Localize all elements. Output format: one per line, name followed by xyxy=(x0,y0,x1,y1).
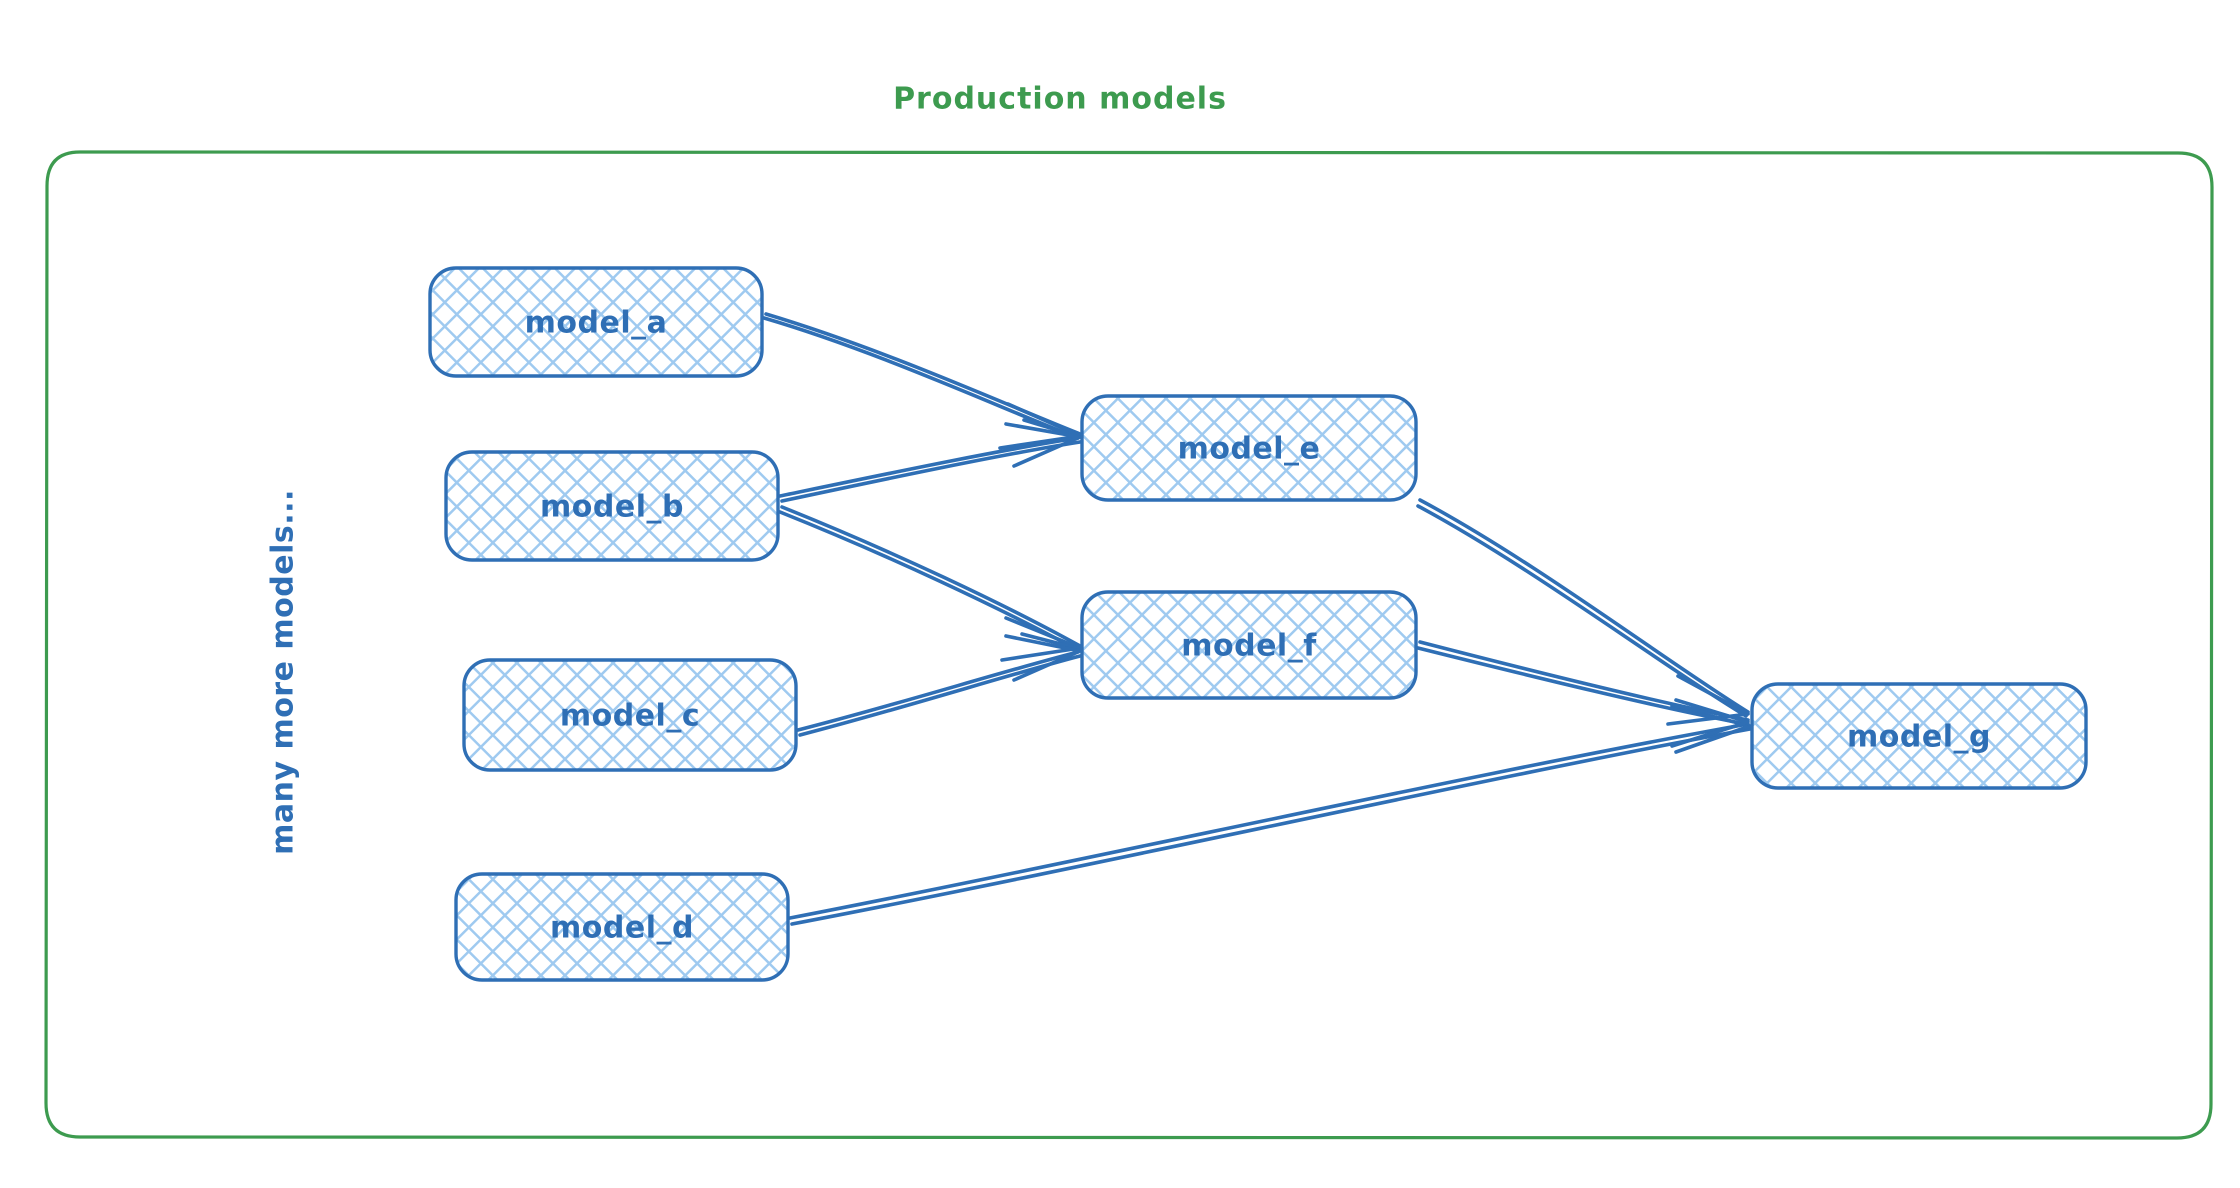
node-label: model_d xyxy=(550,911,694,946)
edge-model_d-to-model_g xyxy=(790,706,1750,924)
node-label: model_g xyxy=(1847,720,1991,755)
node-model_g[interactable]: model_g xyxy=(1752,684,2086,788)
node-model_a[interactable]: model_a xyxy=(430,268,762,376)
node-model_d[interactable]: model_d xyxy=(456,874,788,980)
node-model_c[interactable]: model_c xyxy=(464,660,796,770)
edge-model_c-to-model_f xyxy=(798,636,1080,735)
edge-model_e-to-model_g xyxy=(1418,500,1748,724)
diagram-canvas: Production models many more models... xyxy=(0,0,2240,1188)
edge-model_b-to-model_b-e xyxy=(780,424,1080,501)
node-label: model_f xyxy=(1181,629,1317,664)
node-label: model_e xyxy=(1178,432,1321,467)
node-model_e[interactable]: model_e xyxy=(1082,396,1416,500)
nodes-layer: model_a model_b model_c model_d model_e xyxy=(430,268,2086,980)
edge-model_f-to-model_g xyxy=(1418,642,1748,746)
node-label: model_a xyxy=(525,306,668,341)
node-model_f[interactable]: model_f xyxy=(1082,592,1416,698)
side-note-many-more-models: many more models... xyxy=(266,489,301,855)
edge-model_b-to-model_f xyxy=(780,507,1080,660)
node-label: model_b xyxy=(540,490,684,525)
node-label: model_c xyxy=(560,699,700,734)
node-model_b[interactable]: model_b xyxy=(446,452,778,560)
group-title: Production models xyxy=(893,82,1227,117)
dag-svg: Production models many more models... xyxy=(0,0,2240,1188)
